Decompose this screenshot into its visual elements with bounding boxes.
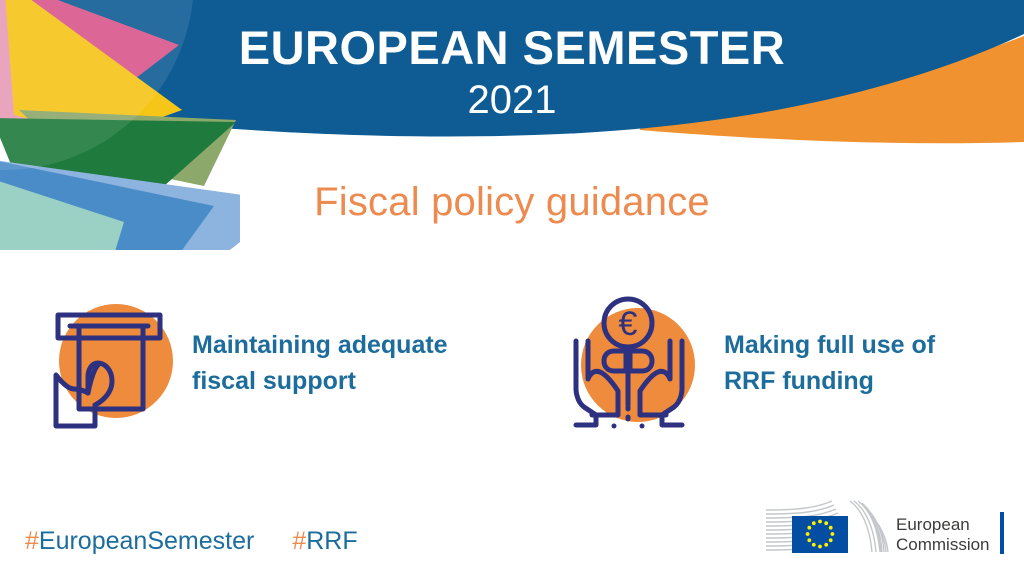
logo-text-line1: European [896,515,970,534]
point-label: Making full use of RRF funding [724,327,935,400]
points-row: Maintaining adequate fiscal support [0,288,1024,438]
icon-orange-circle [59,304,173,418]
euro-symbol: € [619,305,638,343]
point-item-rrf-funding: € Making full use of RRF funding [570,288,935,438]
infographic-canvas: EUROPEAN SEMESTER 2021 Fiscal policy gui… [0,0,1024,576]
hashtag-european-semester[interactable]: #EuropeanSemester [25,527,254,556]
hashtag-row: #EuropeanSemester #RRF [25,527,358,556]
logo-text-line2: Commission [896,535,990,554]
logo-wing-right [850,501,888,552]
european-commission-logo: European Commission [758,496,1013,564]
hash-sign: # [292,527,306,555]
hashtag-word: EuropeanSemester [39,527,254,555]
point-item-fiscal-support: Maintaining adequate fiscal support [48,288,448,438]
hashtag-rrf[interactable]: #RRF [292,527,357,556]
subtitle: Fiscal policy guidance [0,180,1024,225]
hash-sign: # [25,527,39,555]
logo-blue-bar [1000,512,1004,554]
hands-euro-plant-icon: € [570,293,700,433]
hashtag-word: RRF [306,527,357,555]
point-label: Maintaining adequate fiscal support [192,327,448,400]
atm-cash-withdrawal-icon [48,293,178,433]
